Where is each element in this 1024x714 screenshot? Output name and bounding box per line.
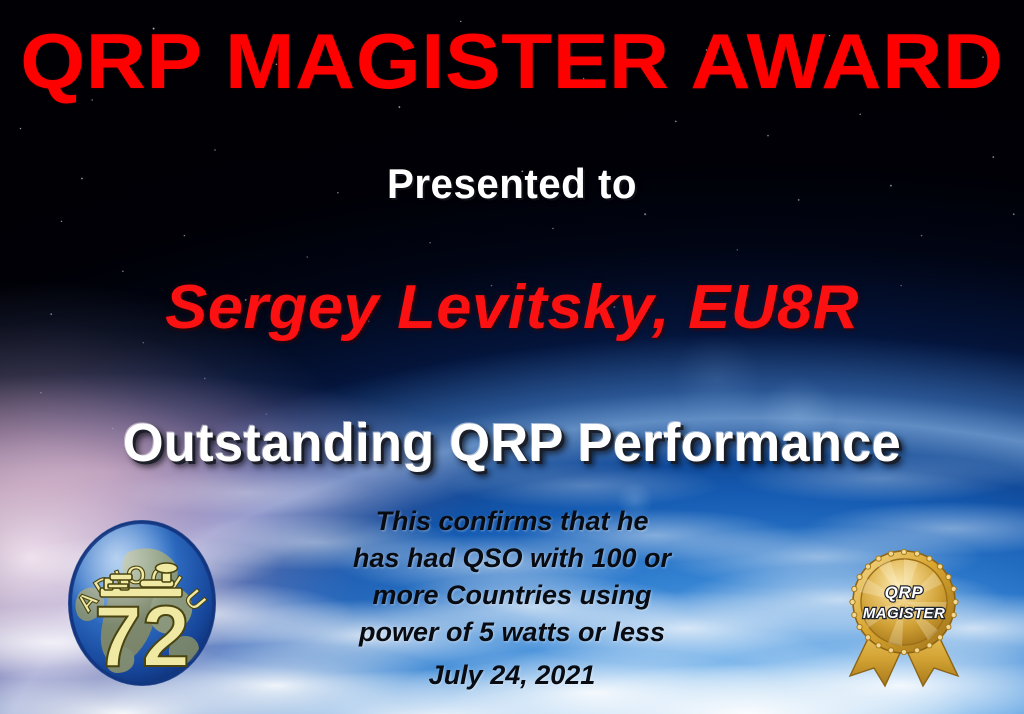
certificate-canvas: QRP MAGISTER AWARD Presented to Sergey L… [0,0,1024,714]
page-title: QRP MAGISTER AWARD [0,16,1024,107]
citation-line: power of 5 watts or less [277,614,747,651]
seal-line-1: QRP [885,583,924,602]
achievement-heading: Outstanding QRP Performance [15,412,1008,474]
presented-to-label: Presented to [20,160,1003,208]
qrp-magister-seal: QRP MAGISTER [838,548,970,690]
emblem-number: 72 [94,589,190,685]
radioclub-72-emblem: RADIOCLUB 72 [58,518,226,688]
award-date: July 24, 2021 [277,660,747,691]
citation-line: more Countries using [277,577,747,614]
citation-line: This confirms that he [277,503,747,540]
citation-line: has had QSO with 100 or [277,540,747,577]
recipient-name: Sergey Levitsky, EU8R [0,272,1024,343]
citation-text-block: This confirms that he has had QSO with 1… [277,503,747,691]
seal-line-2: MAGISTER [863,605,945,622]
